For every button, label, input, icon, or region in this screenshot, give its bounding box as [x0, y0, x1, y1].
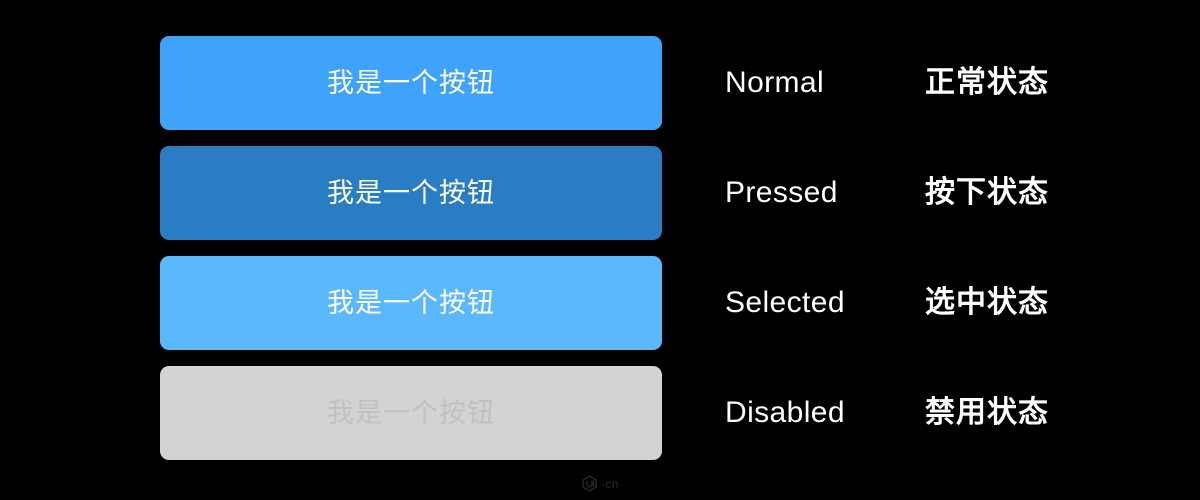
button-label: 我是一个按钮 [327, 400, 495, 427]
ui-cn-hexagon-logo-icon [581, 475, 598, 492]
state-label-en-selected: Selected [725, 288, 925, 318]
state-row-list: 我是一个按钮 Normal 正常状态 我是一个按钮 Pressed 按下状态 我… [160, 36, 1200, 460]
button-state-spec-sheet: 我是一个按钮 Normal 正常状态 我是一个按钮 Pressed 按下状态 我… [0, 0, 1200, 500]
state-row-selected: 我是一个按钮 Selected 选中状态 [160, 256, 1200, 350]
state-label-cn-normal: 正常状态 [925, 68, 1049, 98]
button-label: 我是一个按钮 [327, 180, 495, 207]
button-label: 我是一个按钮 [327, 290, 495, 317]
watermark-text: -cn [601, 478, 619, 490]
state-row-disabled: 我是一个按钮 Disabled 禁用状态 [160, 366, 1200, 460]
state-label-en-normal: Normal [725, 68, 925, 98]
button-pressed[interactable]: 我是一个按钮 [160, 146, 662, 240]
state-label-cn-selected: 选中状态 [925, 288, 1049, 318]
state-label-en-pressed: Pressed [725, 178, 925, 208]
button-selected[interactable]: 我是一个按钮 [160, 256, 662, 350]
button-label: 我是一个按钮 [327, 70, 495, 97]
state-label-cn-disabled: 禁用状态 [925, 398, 1049, 428]
state-label-cn-pressed: 按下状态 [925, 178, 1049, 208]
state-label-en-disabled: Disabled [725, 398, 925, 428]
button-normal[interactable]: 我是一个按钮 [160, 36, 662, 130]
watermark: -cn [0, 475, 1200, 492]
state-row-pressed: 我是一个按钮 Pressed 按下状态 [160, 146, 1200, 240]
button-disabled: 我是一个按钮 [160, 366, 662, 460]
state-row-normal: 我是一个按钮 Normal 正常状态 [160, 36, 1200, 130]
